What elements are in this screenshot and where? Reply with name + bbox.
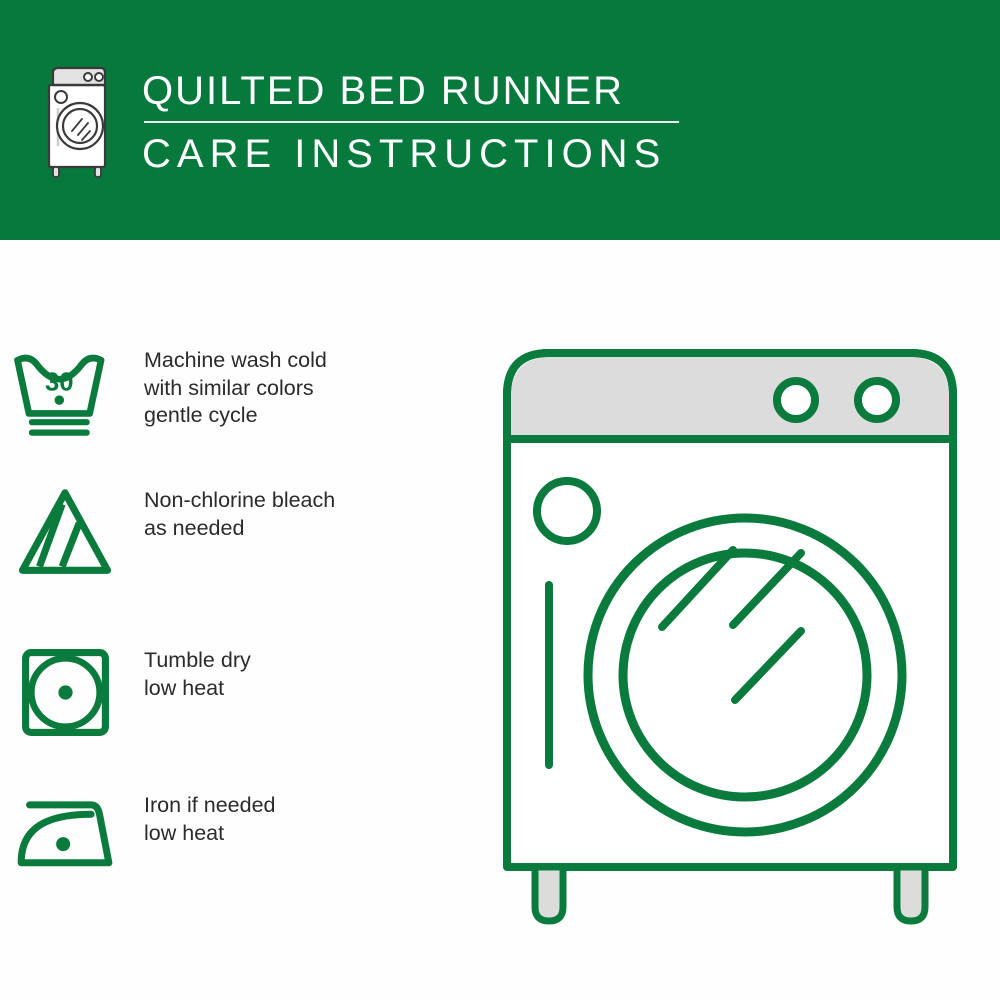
care-line: low heat <box>144 820 276 848</box>
knob-right <box>858 381 896 419</box>
care-symbol-list: 30 Machine wash cold with similar colors… <box>0 240 470 1000</box>
care-line: as needed <box>144 515 335 543</box>
title-divider <box>144 121 679 123</box>
care-text-tumble-dry: Tumble dry low heat <box>144 645 251 702</box>
indicator-circle <box>537 481 597 541</box>
tumble-dry-low-heat-icon <box>0 645 130 740</box>
washing-machine-icon <box>44 63 110 183</box>
machine-wash-30-gentle-icon: 30 <box>0 345 130 440</box>
care-row-iron: Iron if needed low heat <box>0 790 470 874</box>
care-line: with similar colors <box>144 375 327 403</box>
care-row-tumble-dry: Tumble dry low heat <box>0 645 470 740</box>
care-row-wash: 30 Machine wash cold with similar colors… <box>0 345 470 440</box>
care-text-wash: Machine wash cold with similar colors ge… <box>144 345 327 430</box>
iron-low-heat-icon <box>0 790 130 874</box>
care-row-bleach: Non-chlorine bleach as needed <box>0 485 470 580</box>
care-line: Machine wash cold <box>144 347 327 375</box>
non-chlorine-bleach-triangle-icon <box>0 485 130 580</box>
machine-leg-right <box>897 867 925 921</box>
front-load-washing-machine-illustration <box>495 335 965 925</box>
care-instructions-page: QUILTED BED RUNNER CARE INSTRUCTIONS 30 … <box>0 0 1000 1000</box>
svg-text:30: 30 <box>45 369 74 397</box>
care-line: Tumble dry <box>144 647 251 675</box>
machine-leg-left <box>535 867 563 921</box>
care-line: low heat <box>144 675 251 703</box>
header-banner: QUILTED BED RUNNER CARE INSTRUCTIONS <box>0 0 1000 240</box>
page-title: QUILTED BED RUNNER <box>142 68 742 114</box>
page-subtitle: CARE INSTRUCTIONS <box>142 131 742 177</box>
door-inner-ring <box>623 553 867 797</box>
care-text-bleach: Non-chlorine bleach as needed <box>144 485 335 542</box>
header-title-group: QUILTED BED RUNNER CARE INSTRUCTIONS <box>142 68 742 177</box>
care-text-iron: Iron if needed low heat <box>144 790 276 847</box>
care-line: gentle cycle <box>144 402 327 430</box>
knob-left <box>777 381 815 419</box>
care-line: Iron if needed <box>144 792 276 820</box>
care-line: Non-chlorine bleach <box>144 487 335 515</box>
